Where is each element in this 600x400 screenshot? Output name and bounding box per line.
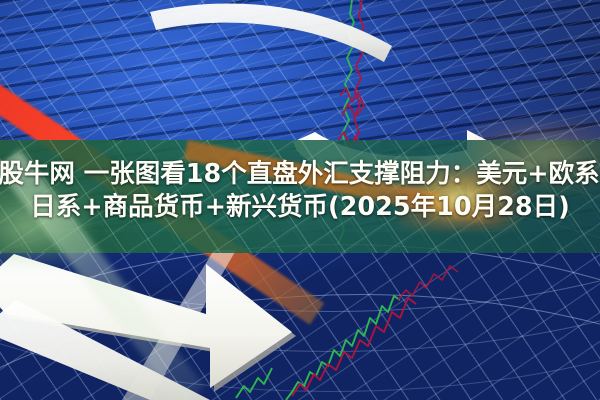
headline-line-2: 日系+商品货币+新兴货币(2025年10月28日)	[0, 191, 600, 224]
banner-image: 股牛网 一张图看18个直盘外汇支撑阻力：美元+欧系 日系+商品货币+新兴货币(2…	[0, 0, 600, 400]
page-title: 股牛网 一张图看18个直盘外汇支撑阻力：美元+欧系 日系+商品货币+新兴货币(2…	[0, 158, 600, 223]
arrow-ribbon-top-left	[150, 3, 392, 62]
headline-line-1: 股牛网 一张图看18个直盘外汇支撑阻力：美元+欧系	[0, 158, 600, 191]
